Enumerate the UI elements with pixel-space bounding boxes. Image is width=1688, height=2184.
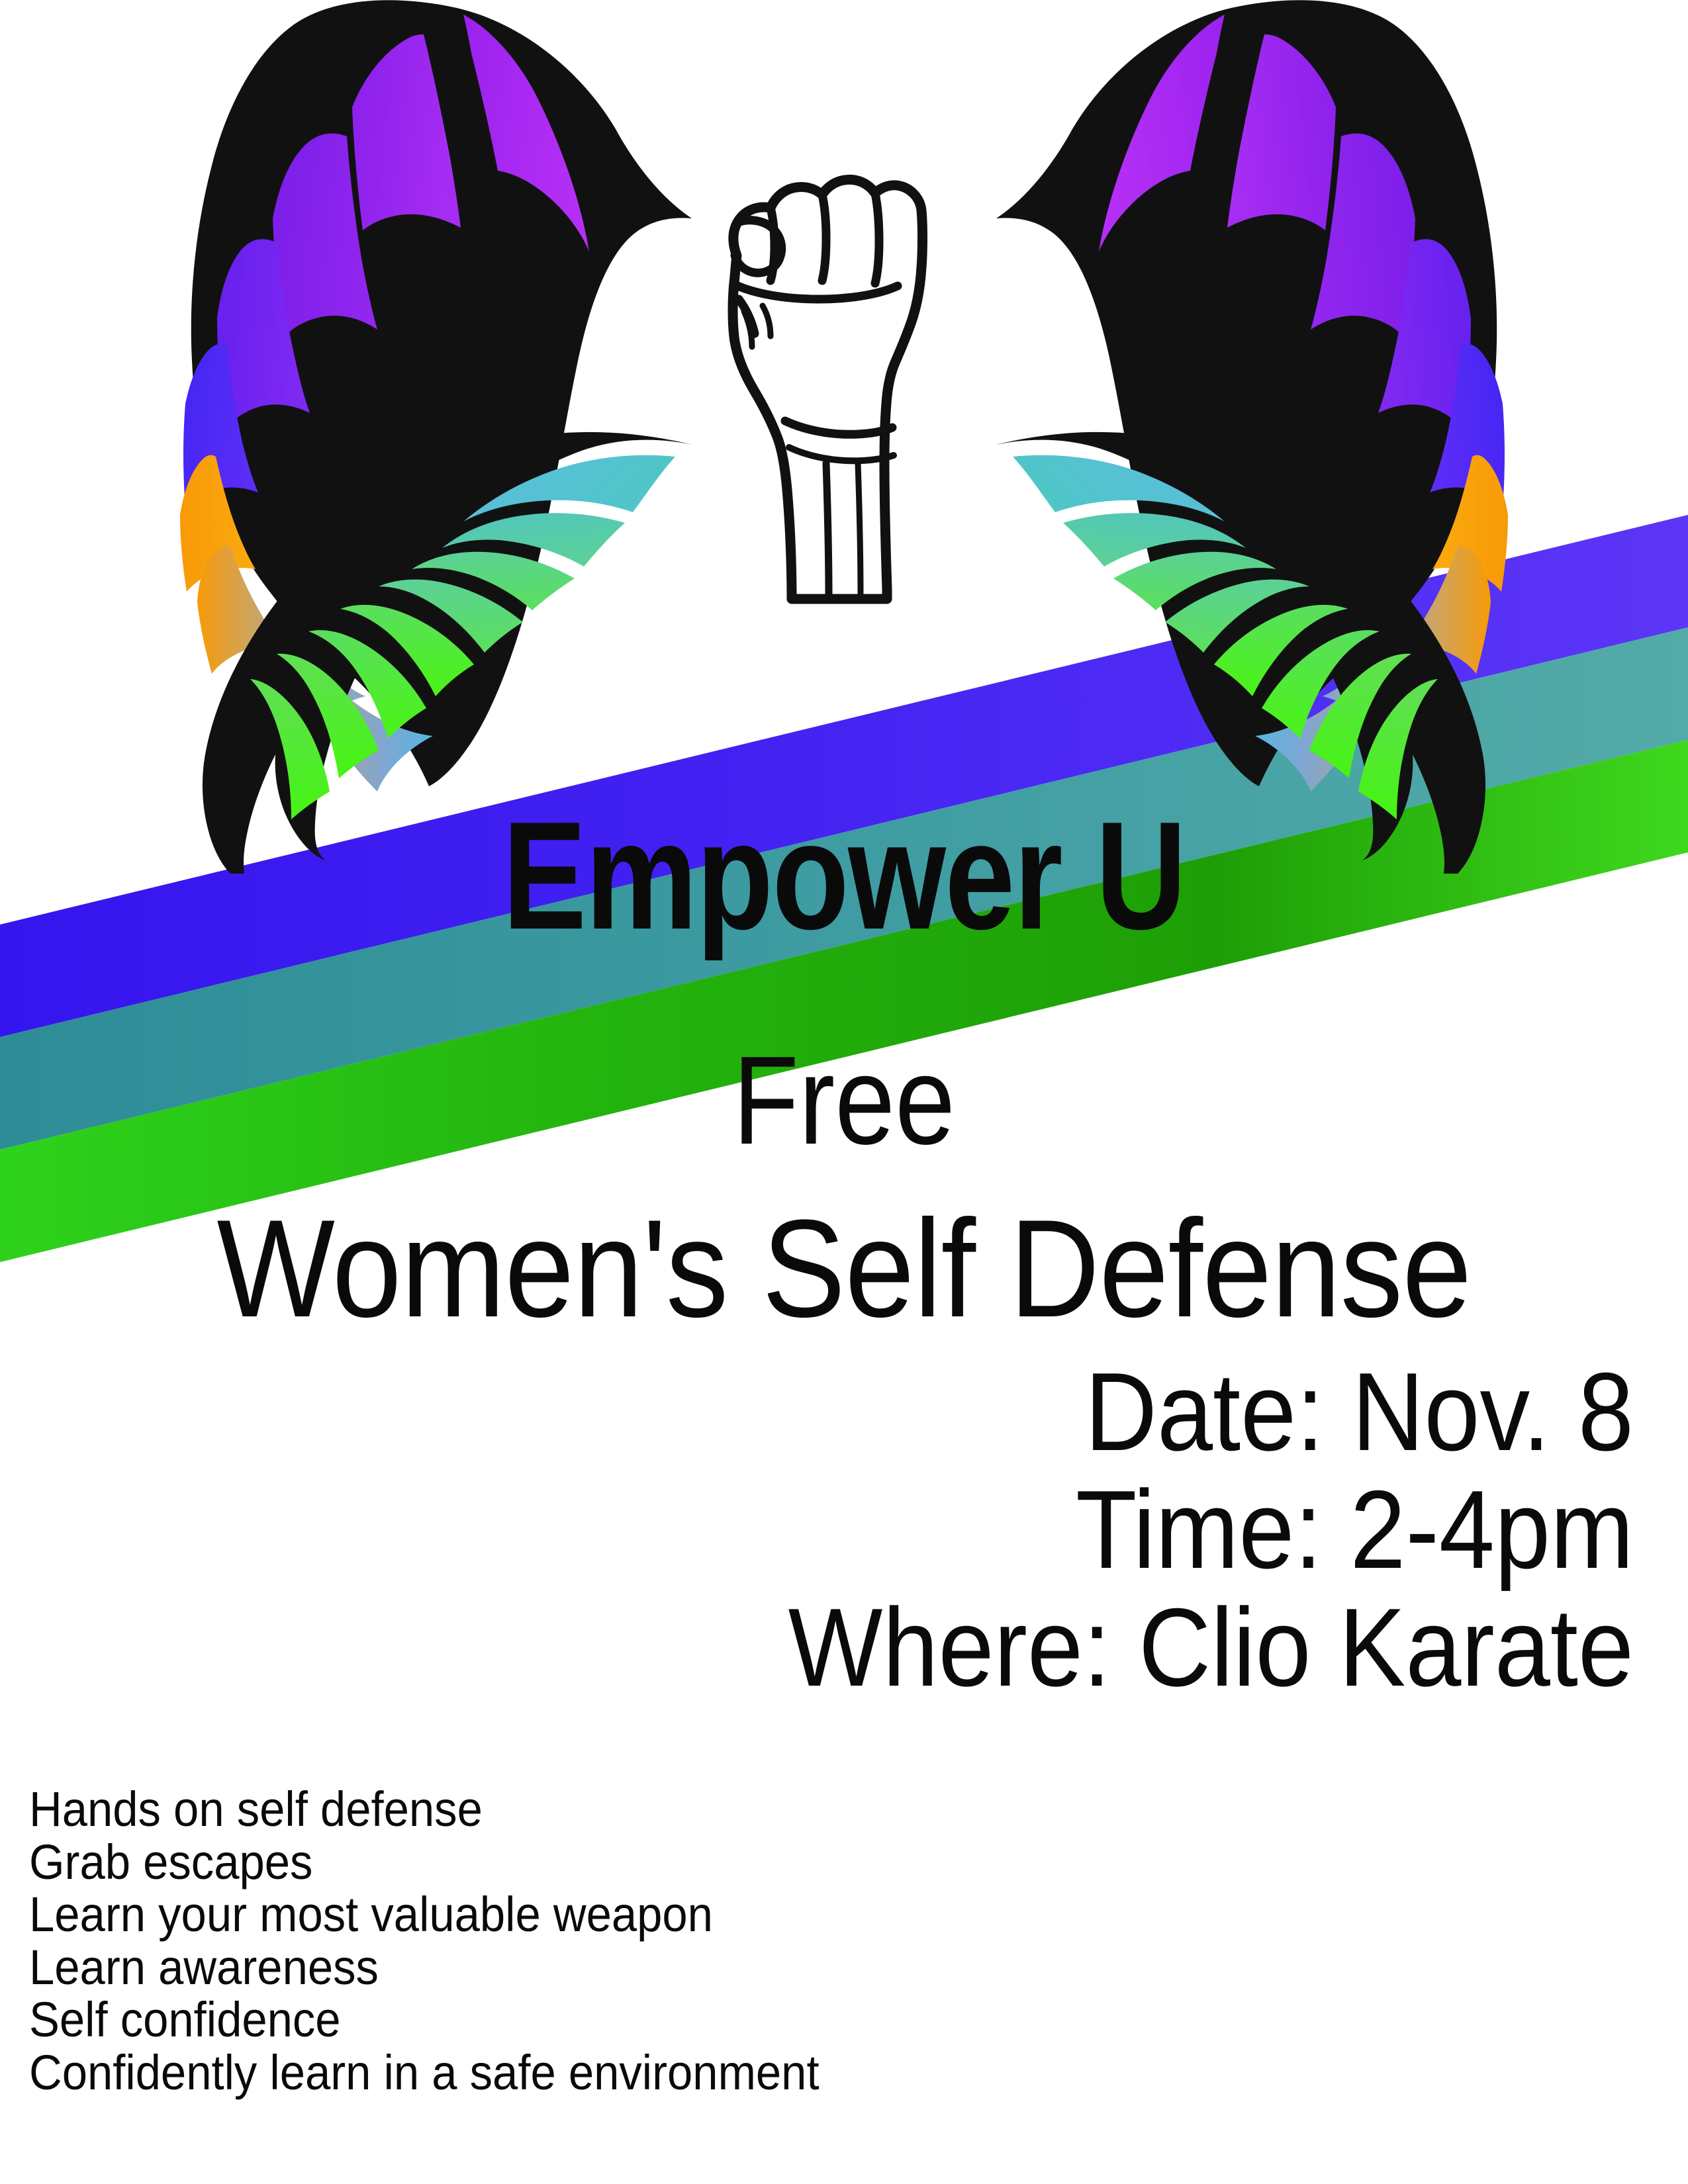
fist-knuckle-3 — [875, 193, 879, 283]
butterfly-illustration — [0, 0, 1688, 874]
subtitle-free: Free — [118, 1038, 1570, 1163]
detail-time: Time: 2-4pm — [164, 1471, 1634, 1588]
forearm-line-2 — [858, 463, 861, 594]
forearm-line-1 — [826, 463, 829, 596]
list-item: Learn awareness — [29, 1941, 820, 1994]
fist-knuckle-2 — [822, 195, 826, 281]
feature-list: Hands on self defense Grab escapes Learn… — [29, 1783, 878, 2099]
headline-womens-self-defense: Women's Self Defense — [85, 1199, 1604, 1338]
detail-where: Where: Clio Karate — [164, 1588, 1634, 1706]
list-item: Learn your most valuable weapon — [29, 1888, 820, 1941]
poster-canvas: Empower U Free Women's Self Defense Date… — [0, 0, 1688, 2184]
raised-fist-icon — [733, 179, 923, 599]
detail-date: Date: Nov. 8 — [164, 1353, 1634, 1471]
list-item: Confidently learn in a safe environment — [29, 2046, 820, 2099]
list-item: Self confidence — [29, 1993, 820, 2046]
event-details: Date: Nov. 8 Time: 2-4pm Where: Clio Kar… — [0, 1353, 1634, 1706]
page-title: Empower U — [152, 799, 1536, 953]
list-item: Grab escapes — [29, 1836, 820, 1889]
list-item: Hands on self defense — [29, 1783, 820, 1836]
